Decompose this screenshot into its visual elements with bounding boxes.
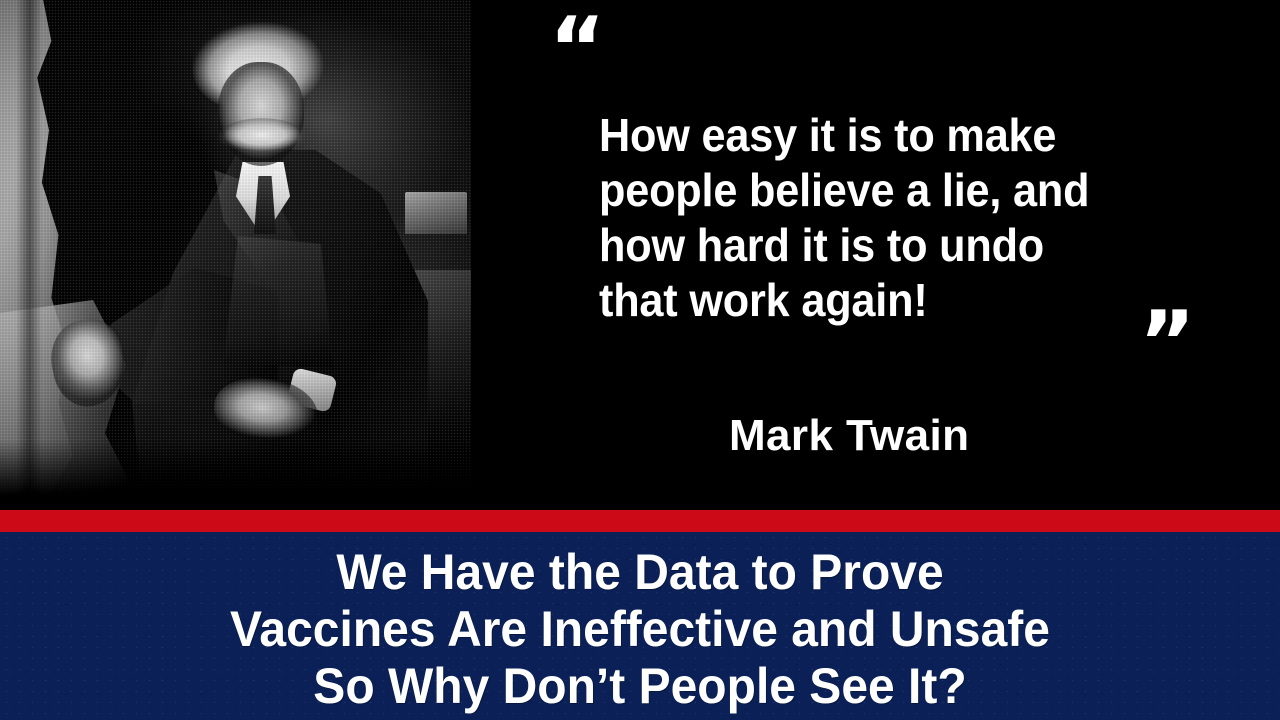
red-divider-stripe	[0, 510, 1280, 532]
photo-image	[0, 0, 471, 510]
banner-line-2: Vaccines Are Ineffective and Unsafe	[26, 601, 1255, 658]
quote-text: How easy it is to make people believe a …	[599, 108, 1182, 328]
photo-grain	[0, 0, 471, 510]
closing-quote-icon: ”	[1139, 300, 1194, 386]
opening-quote-icon: “	[549, 6, 604, 92]
photo-bottom-fade	[0, 440, 471, 510]
banner-headline: We Have the Data to Prove Vaccines Are I…	[26, 544, 1255, 715]
mark-twain-photo	[0, 0, 471, 510]
upper-section: “ How easy it is to make people believe …	[0, 0, 1280, 510]
quote-author: Mark Twain	[729, 414, 969, 458]
banner-line-1: We Have the Data to Prove	[26, 544, 1255, 601]
quote-card: “ How easy it is to make people believe …	[0, 0, 1280, 720]
headline-banner: We Have the Data to Prove Vaccines Are I…	[0, 532, 1280, 720]
banner-line-3: So Why Don’t People See It?	[26, 658, 1255, 715]
quote-panel: “ How easy it is to make people believe …	[471, 0, 1280, 510]
